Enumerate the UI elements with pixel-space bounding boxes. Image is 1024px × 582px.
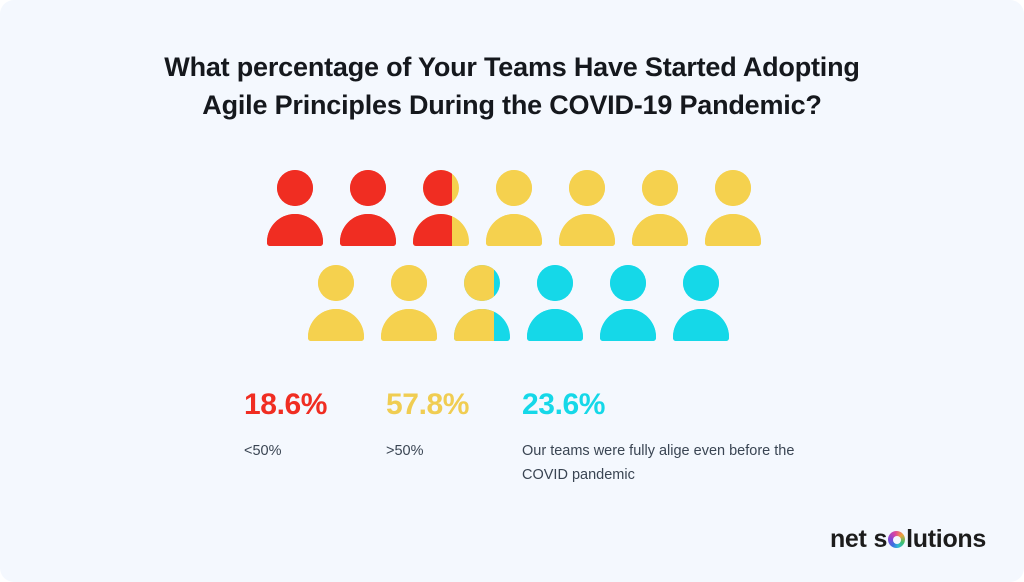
person-icon-fill: [673, 265, 729, 341]
pictogram-row-1: [267, 170, 761, 260]
person-icon-fill: [559, 170, 615, 246]
stat-label-over-50: >50%: [386, 439, 536, 463]
person-icon-fill: [527, 265, 583, 341]
person-icon-fill: [413, 170, 452, 246]
person-icon: [600, 265, 656, 341]
person-icon-fill: [486, 170, 542, 246]
logo-word-solutions-suffix: lutions: [906, 525, 986, 554]
person-icon: [454, 265, 510, 341]
person-icon-fill: [340, 170, 396, 246]
stat-value-over-50: 57.8%: [386, 388, 536, 422]
net-solutions-logo: net s lutions: [830, 525, 986, 554]
person-icon-fill: [632, 170, 688, 246]
logo-word-net: net: [830, 525, 867, 554]
person-icon: [673, 265, 729, 341]
stat-item-already-agile: 23.6% Our teams were fully alige even be…: [522, 388, 822, 487]
infographic-canvas: What percentage of Your Teams Have Start…: [0, 0, 1024, 582]
person-icon: [267, 170, 323, 246]
person-icon-fill: [705, 170, 761, 246]
person-icon-fill: [600, 265, 656, 341]
person-icon: [527, 265, 583, 341]
person-icon: [381, 265, 437, 341]
person-icon: [705, 170, 761, 246]
person-icon: [559, 170, 615, 246]
stat-item-under-50: 18.6% <50%: [244, 388, 394, 463]
stat-item-over-50: 57.8% >50%: [386, 388, 536, 463]
person-icon: [632, 170, 688, 246]
person-icon-fill: [267, 170, 323, 246]
stat-value-already-agile: 23.6%: [522, 388, 822, 422]
person-icon-fill: [454, 265, 494, 341]
person-icon-fill: [381, 265, 437, 341]
stat-value-under-50: 18.6%: [244, 388, 394, 422]
logo-ring-icon: [888, 531, 905, 548]
logo-word-solutions-prefix: s: [874, 525, 888, 554]
pictogram-row-2: [308, 265, 729, 355]
stat-label-already-agile: Our teams were fully alige even before t…: [522, 439, 822, 487]
title-line-2: Agile Principles During the COVID-19 Pan…: [0, 86, 1024, 124]
pictogram-chart: [0, 160, 1024, 360]
stat-label-under-50: <50%: [244, 439, 394, 463]
person-icon: [486, 170, 542, 246]
title-line-1: What percentage of Your Teams Have Start…: [0, 48, 1024, 86]
person-icon: [308, 265, 364, 341]
person-icon: [340, 170, 396, 246]
page-title: What percentage of Your Teams Have Start…: [0, 48, 1024, 124]
person-icon: [413, 170, 469, 246]
person-icon-fill: [308, 265, 364, 341]
